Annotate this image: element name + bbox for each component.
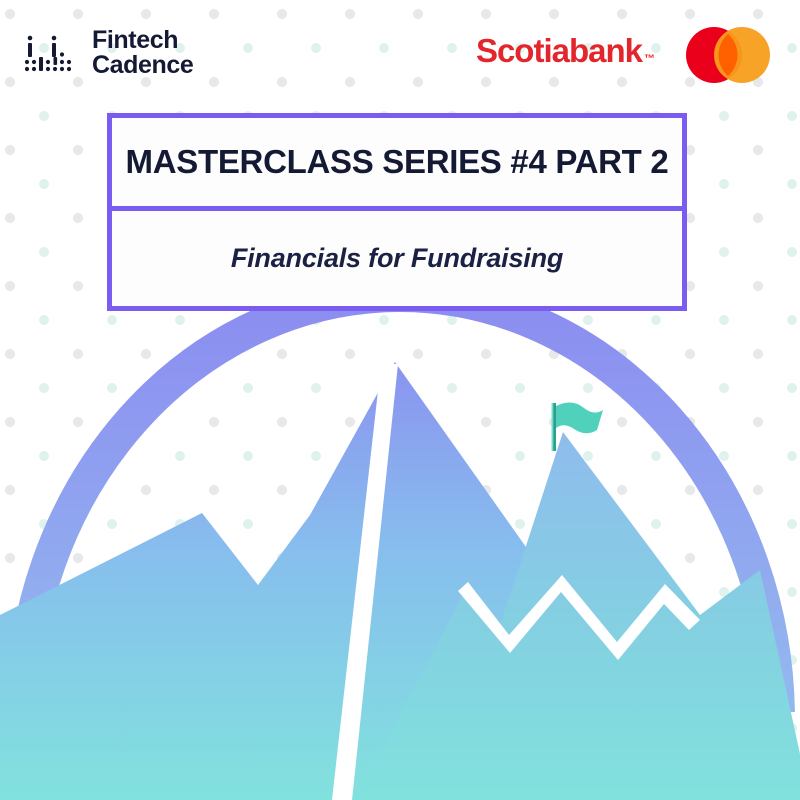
scotiabank-trademark: ™ xyxy=(644,53,655,65)
fintech-cadence-dot-mark-icon xyxy=(24,31,82,75)
masterclass-title-row: MASTERCLASS SERIES #4 PART 2 xyxy=(112,118,682,211)
poster-canvas: Fintech Cadence Scotiabank ™ MASTERCLASS… xyxy=(0,0,800,800)
scotiabank-label: Scotiabank xyxy=(476,32,642,70)
scotiabank-wordmark-icon: Scotiabank ™ xyxy=(476,32,655,70)
brand-line-2: Cadence xyxy=(92,53,193,78)
fintech-cadence-logo: Fintech Cadence xyxy=(24,28,193,77)
mountain-range-icon xyxy=(0,330,800,800)
page-subtitle: Financials for Fundraising xyxy=(231,243,563,274)
page-title: MASTERCLASS SERIES #4 PART 2 xyxy=(126,143,669,181)
mastercard-logo-icon xyxy=(680,25,776,85)
masterclass-subtitle-row: Financials for Fundraising xyxy=(112,211,682,306)
brand-line-1: Fintech xyxy=(92,28,193,53)
title-panel: MASTERCLASS SERIES #4 PART 2 Financials … xyxy=(107,113,687,311)
